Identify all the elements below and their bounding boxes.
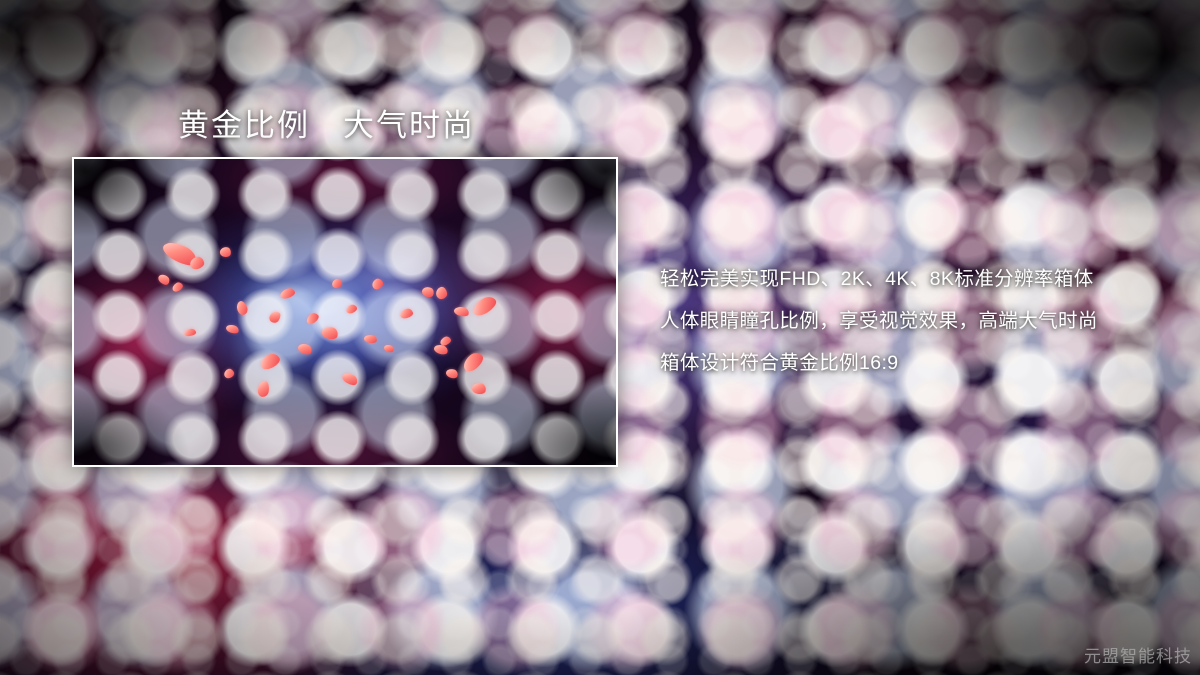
photo-corner-shading	[74, 159, 616, 465]
description-text-block: 轻松完美实现FHD、2K、4K、8K标准分辨率箱体 人体眼睛瞳孔比例，享受视觉效…	[660, 258, 1160, 384]
presentation-slide: 黄金比例 大气时尚	[0, 0, 1200, 675]
watermark-label: 元盟智能科技	[1084, 642, 1192, 667]
description-line: 箱体设计符合黄金比例16:9	[660, 342, 1160, 384]
description-line: 人体眼睛瞳孔比例，享受视觉效果，高端大气时尚	[660, 300, 1160, 342]
description-line: 轻松完美实现FHD、2K、4K、8K标准分辨率箱体	[660, 258, 1160, 300]
framed-image	[72, 157, 618, 467]
page-title: 黄金比例 大气时尚	[178, 100, 475, 145]
